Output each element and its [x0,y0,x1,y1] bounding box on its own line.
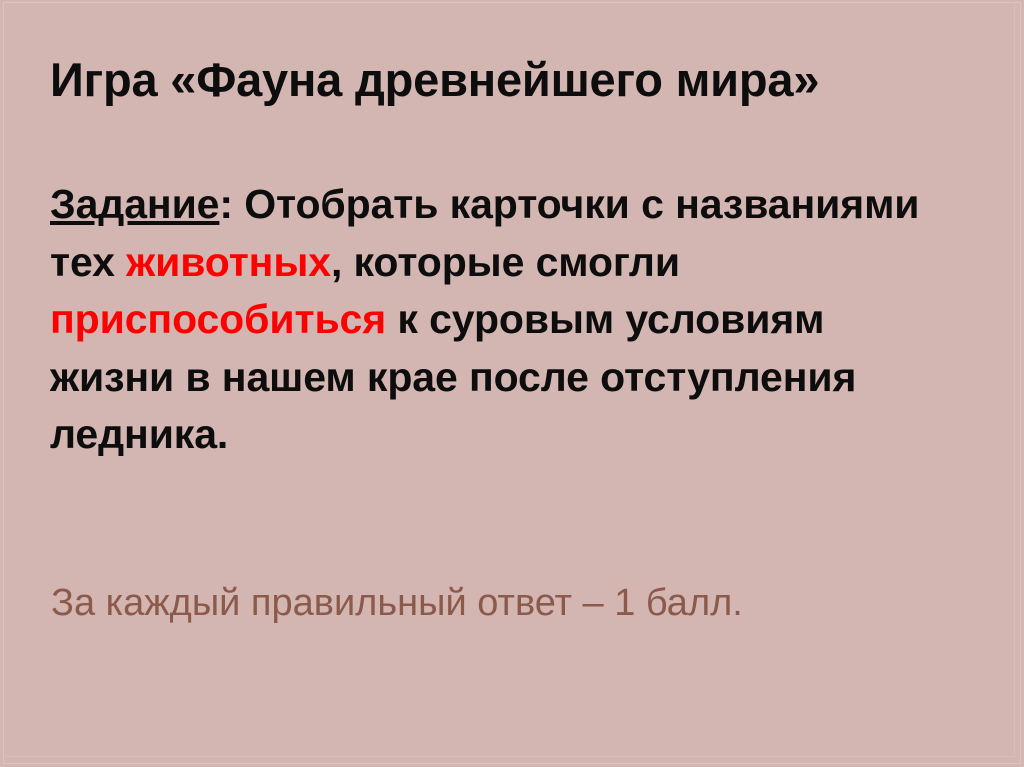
task-label-separator: : [219,181,233,227]
slide-title: Игра «Фауна древнейшего мира» [50,51,980,109]
slide-canvas: Игра «Фауна древнейшего мира» Задание: О… [0,0,1024,767]
task-text-segment-2: , которые смогли [331,239,680,285]
task-highlight-adapt: приспособиться [50,296,386,342]
task-highlight-animals: животных [126,239,331,285]
scoring-note: За каждый правильный ответ – 1 балл. [51,579,951,627]
task-label: Задание [50,181,219,227]
task-paragraph: Задание: Отобрать карточки с названиями … [50,176,930,464]
